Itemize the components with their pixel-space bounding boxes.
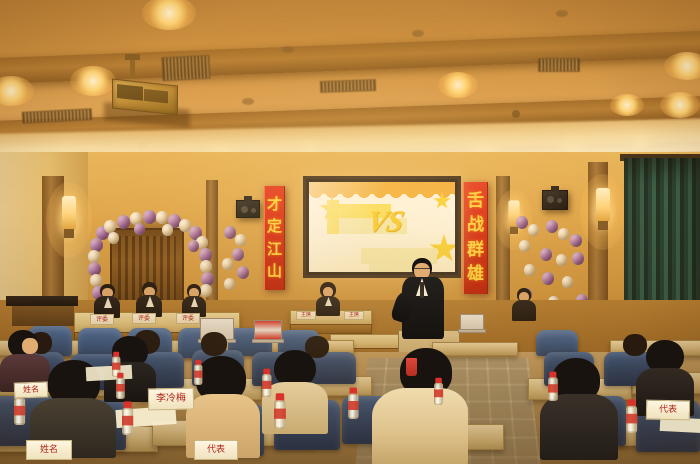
- ceiling-fixture-dot: [242, 98, 254, 105]
- laptop-base: [252, 339, 284, 343]
- left-red-banner: 才 定 江 山: [264, 186, 285, 290]
- right-red-banner: 舌 战 群 雄: [463, 182, 488, 294]
- balloon: [117, 215, 130, 229]
- glasses-icon: [414, 268, 430, 271]
- placard-judge-2: 评委: [132, 313, 156, 324]
- ceiling: [0, 0, 700, 168]
- banner-char: 定: [267, 219, 282, 234]
- cup-body: [406, 358, 417, 376]
- balloon: [519, 240, 530, 252]
- slide-vs-text: VS: [364, 205, 406, 239]
- speaker-presenter: [400, 258, 446, 362]
- bottle-label: [434, 389, 443, 397]
- sconce-base: [64, 229, 74, 238]
- ceiling-air-vent: [320, 79, 376, 93]
- balloon: [143, 210, 156, 224]
- bottle-label: [348, 401, 359, 410]
- bottle-label: [112, 363, 120, 370]
- placard-text: 李冷梅: [156, 394, 186, 405]
- placard-text: 主席: [301, 313, 311, 318]
- water-bottle[interactable]: [194, 360, 202, 385]
- balloon: [134, 223, 145, 235]
- wall-sconce: [596, 188, 610, 232]
- audience-person-foreground: [372, 348, 468, 464]
- placard-text: 主席: [349, 313, 359, 318]
- person-torso: [372, 388, 468, 464]
- ceiling-fixture-dot: [282, 46, 294, 53]
- placard-text: 评委: [138, 316, 150, 322]
- conference-hall-photo: 才 定 江 山 舌 战 群 雄 VS: [0, 0, 700, 464]
- recessed-downlight: [70, 66, 116, 96]
- water-bottle[interactable]: [122, 401, 133, 435]
- placard-text: 代表: [659, 405, 677, 414]
- placard-audience-left: 姓名: [14, 381, 49, 398]
- audience-person-foreground: [262, 350, 328, 428]
- judge-person: [94, 284, 120, 316]
- laptop[interactable]: [254, 320, 284, 342]
- recessed-downlight: [660, 92, 700, 118]
- judge-person: [136, 282, 162, 316]
- wall-sconce: [62, 196, 76, 240]
- balloon: [516, 216, 528, 229]
- water-bottle[interactable]: [348, 388, 359, 420]
- person-torso: [262, 382, 328, 434]
- water-bottle[interactable]: [262, 369, 271, 397]
- sconce-tube: [596, 188, 610, 222]
- water-bottle[interactable]: [116, 373, 125, 399]
- banner-char: 舌: [467, 193, 484, 210]
- water-bottle[interactable]: [434, 378, 443, 405]
- balloon: [104, 220, 116, 233]
- person-torso: [512, 300, 536, 321]
- balloon: [232, 248, 244, 261]
- laptop-screen: [460, 314, 484, 330]
- sconce-tube: [62, 196, 76, 230]
- balloon: [540, 248, 552, 261]
- placard-audience-row2: 姓名: [26, 440, 72, 460]
- balloon: [224, 278, 235, 290]
- balloon: [542, 272, 554, 285]
- necktie-icon: [420, 282, 424, 298]
- banner-char: 群: [467, 242, 484, 259]
- recessed-downlight: [664, 52, 700, 80]
- balloon: [162, 224, 173, 236]
- bottle-label: [122, 416, 133, 426]
- balloon: [572, 252, 584, 265]
- balloon: [528, 224, 539, 236]
- banner-char: 战: [467, 217, 484, 234]
- paper-sheet: [86, 365, 133, 381]
- balloon: [570, 234, 582, 247]
- smoke-detector-icon: [512, 110, 520, 118]
- judge-person: [182, 284, 206, 316]
- bottle-label: [14, 406, 25, 416]
- placard-text: 姓名: [40, 446, 58, 455]
- placard-judge-3: 评委: [176, 313, 200, 324]
- judge-person: [512, 288, 536, 320]
- placard-text: 评委: [182, 316, 194, 322]
- balloon: [222, 258, 233, 270]
- balloon: [108, 232, 119, 244]
- bottle-label: [548, 384, 558, 392]
- side-console-legs: [12, 306, 74, 326]
- balloon: [562, 276, 573, 288]
- ceiling-projector: [112, 76, 184, 116]
- bottle-label: [274, 409, 286, 419]
- recessed-downlight: [610, 94, 644, 116]
- water-bottle[interactable]: [626, 399, 637, 433]
- bottle-label: [626, 414, 637, 424]
- recessed-downlight: [438, 72, 478, 98]
- wall-speaker: [236, 200, 260, 218]
- ceiling-fixture-dot: [556, 10, 568, 17]
- side-console-table: [6, 296, 78, 306]
- placard-audience-right: 代表: [646, 400, 690, 421]
- placard-audience-row2: 代表: [194, 440, 238, 460]
- laptop-base: [458, 329, 486, 333]
- person-torso: [540, 394, 618, 460]
- balloon: [237, 266, 249, 279]
- placard-audience-center: 李冷梅: [148, 388, 194, 411]
- moderator-person: [316, 282, 340, 314]
- balloon: [235, 234, 246, 246]
- laptop[interactable]: [460, 314, 486, 332]
- projector-mount: [130, 58, 135, 78]
- slide-top-banner: [309, 182, 455, 194]
- placard-moderator-2: 主席: [344, 311, 364, 320]
- banner-char: 才: [267, 197, 282, 212]
- bottle-label: [116, 384, 125, 392]
- balloon: [558, 228, 569, 240]
- ceiling-fixture-dot: [412, 30, 424, 37]
- water-bottle[interactable]: [548, 372, 558, 401]
- placard-text: 代表: [207, 446, 225, 455]
- placard-judge-1: 评委: [90, 314, 114, 325]
- sconce-base: [598, 221, 608, 230]
- wall-speaker: [542, 190, 568, 210]
- recessed-downlight: [142, 0, 196, 30]
- placard-text: 评委: [96, 317, 108, 323]
- red-cup[interactable]: [406, 358, 417, 376]
- water-bottle[interactable]: [274, 393, 286, 429]
- banner-char: 山: [267, 264, 282, 279]
- slide-bar: [327, 200, 339, 234]
- balloon: [546, 220, 558, 233]
- person-head: [201, 332, 227, 356]
- balloon: [188, 240, 199, 252]
- ceiling-air-vent: [538, 58, 580, 72]
- sconce-base: [510, 227, 518, 234]
- banner-char: 雄: [467, 266, 484, 283]
- balloon: [556, 254, 567, 266]
- laptop-screen: [254, 320, 282, 340]
- bottle-label: [262, 381, 271, 389]
- balloon: [524, 264, 535, 276]
- balloon: [224, 226, 236, 239]
- person-face: [22, 338, 38, 354]
- balloon: [156, 211, 168, 224]
- banner-char: 江: [267, 242, 282, 257]
- placard-moderator-1: 主席: [296, 311, 316, 320]
- bottle-label: [194, 371, 202, 378]
- placard-text: 姓名: [23, 386, 39, 395]
